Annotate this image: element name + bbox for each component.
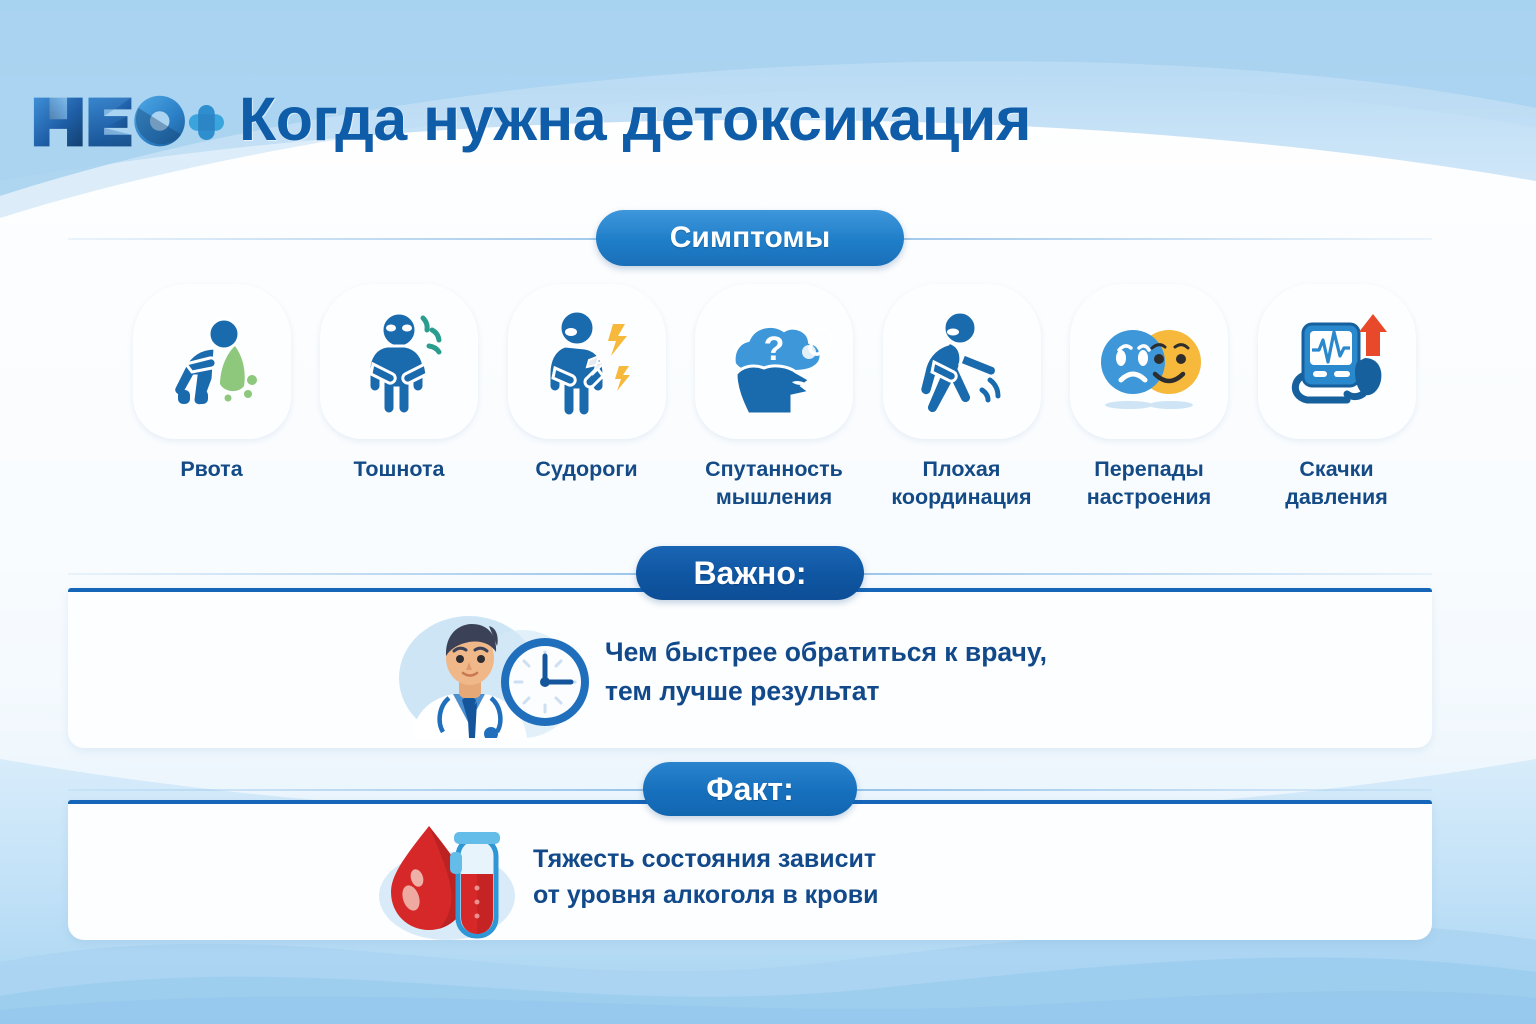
important-text-line2: тем лучше результат [605, 672, 1047, 711]
symptom-label: Рвота [180, 456, 242, 484]
fact-text-line1: Тяжесть состояния зависит [533, 845, 876, 873]
symptom-card-nausea[interactable] [320, 284, 478, 439]
doctor-with-clock-illustration [373, 606, 605, 738]
symptom-card-mood[interactable] [1070, 284, 1228, 439]
symptom-label: Тошнота [354, 456, 445, 484]
symptom-label-line1: Спутанность [705, 457, 843, 481]
head-confusion-cloud-icon: ? [714, 302, 834, 422]
symptom-label: Судороги [535, 456, 637, 484]
person-nausea-icon [339, 302, 459, 422]
fact-text-line2: от уровня алкоголя в крови [533, 877, 878, 914]
person-vomiting-icon [152, 302, 272, 422]
symptom-item[interactable]: Перепады настроения [1062, 284, 1237, 511]
page-title: Когда нужна детоксикация [239, 89, 1031, 150]
symptom-item[interactable]: Тошнота [312, 284, 487, 511]
symptom-label-line2: давления [1285, 485, 1388, 509]
symptoms-row: Рвота Тошнота [124, 284, 1424, 511]
symptom-item[interactable]: Плохая координация [874, 284, 1049, 511]
fact-badge: Факт: [643, 762, 857, 816]
important-card: Чем быстрее обратиться к врачу, тем лучш… [68, 588, 1432, 748]
symptom-label: Плохая координация [891, 456, 1031, 511]
symptom-label-line2: настроения [1087, 485, 1211, 509]
symptom-item[interactable]: Рвота [124, 284, 299, 511]
symptom-label-line2: координация [891, 485, 1031, 509]
symptom-label-line1: Перепады [1094, 457, 1203, 481]
symptom-label-line2: мышления [716, 485, 832, 509]
symptom-label: Перепады настроения [1087, 456, 1211, 511]
important-badge: Важно: [636, 546, 864, 600]
blood-drop-test-tube-illustration [373, 812, 533, 942]
page-header: Когда нужна детоксикация [0, 74, 1536, 164]
fact-card: Тяжесть состояния зависит от уровня алко… [68, 800, 1432, 940]
symptom-card-coordination[interactable] [883, 284, 1041, 439]
symptom-card-cramps[interactable] [508, 284, 666, 439]
neo-plus-logo [30, 84, 225, 154]
symptom-item[interactable]: Судороги [499, 284, 674, 511]
person-unsteady-icon [902, 302, 1022, 422]
important-card-text: Чем быстрее обратиться к врачу, тем лучш… [605, 633, 1047, 710]
symptom-item[interactable]: ? Спутанность мышления [687, 284, 862, 511]
fact-card-text: Тяжесть состояния зависит от уровня алко… [533, 841, 878, 914]
symptoms-section-header: Симптомы [68, 210, 1432, 266]
symptom-label-line1: Плохая [923, 457, 1001, 481]
symptom-label: Скачки давления [1285, 456, 1388, 511]
symptom-card-blood-pressure[interactable] [1258, 284, 1416, 439]
blood-pressure-monitor-icon [1277, 302, 1397, 422]
symptom-label-line1: Скачки [1299, 457, 1373, 481]
mood-faces-icon [1089, 302, 1209, 422]
symptom-card-confusion[interactable]: ? [695, 284, 853, 439]
svg-text:?: ? [764, 330, 785, 368]
important-text-line1: Чем быстрее обратиться к врачу, [605, 637, 1047, 667]
symptom-item[interactable]: Скачки давления [1249, 284, 1424, 511]
symptom-card-vomiting[interactable] [133, 284, 291, 439]
symptoms-badge: Симптомы [596, 210, 904, 266]
symptom-label: Спутанность мышления [705, 456, 843, 511]
person-cramps-lightning-icon [527, 302, 647, 422]
